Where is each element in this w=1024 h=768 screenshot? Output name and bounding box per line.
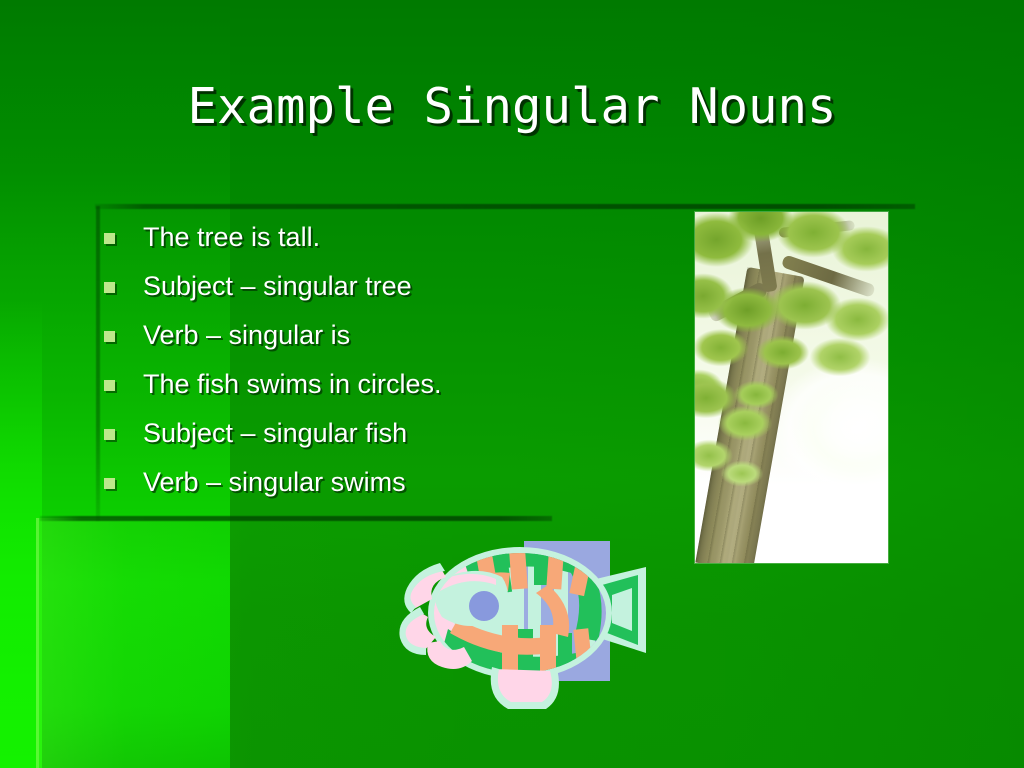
- list-item: Verb – singular swims: [104, 465, 664, 514]
- square-bullet-icon: [104, 331, 115, 342]
- fish-clipart: Stylized abstract clip-art fish with pin…: [398, 533, 670, 733]
- square-bullet-icon: [104, 478, 115, 489]
- bottom-panel-edge: [36, 518, 39, 768]
- bullet-list: The tree is tall. Subject – singular tre…: [104, 220, 664, 514]
- slide-title: Example Singular Nouns: [0, 78, 1024, 136]
- list-item-label: Verb – singular is: [143, 318, 350, 352]
- square-bullet-icon: [104, 282, 115, 293]
- tree-photo-sun-haze: [695, 212, 888, 563]
- fish-eye: [469, 591, 499, 621]
- square-bullet-icon: [104, 429, 115, 440]
- list-item-label: Verb – singular swims: [143, 465, 406, 499]
- list-item: The fish swims in circles.: [104, 367, 664, 416]
- divider-line-vertical: [96, 206, 100, 521]
- list-item: Subject – singular tree: [104, 269, 664, 318]
- divider-line-bottom: [40, 516, 552, 521]
- list-item-label: Subject – singular fish: [143, 416, 407, 450]
- list-item: The tree is tall.: [104, 220, 664, 269]
- list-item-label: Subject – singular tree: [143, 269, 412, 303]
- list-item: Subject – singular fish: [104, 416, 664, 465]
- list-item: Verb – singular is: [104, 318, 664, 367]
- list-item-label: The fish swims in circles.: [143, 367, 442, 401]
- tree-photo: [695, 212, 888, 563]
- list-item-label: The tree is tall.: [143, 220, 320, 254]
- square-bullet-icon: [104, 233, 115, 244]
- divider-line-top: [95, 204, 915, 209]
- presentation-slide: Example Singular Nouns The tree is tall.…: [0, 0, 1024, 768]
- square-bullet-icon: [104, 380, 115, 391]
